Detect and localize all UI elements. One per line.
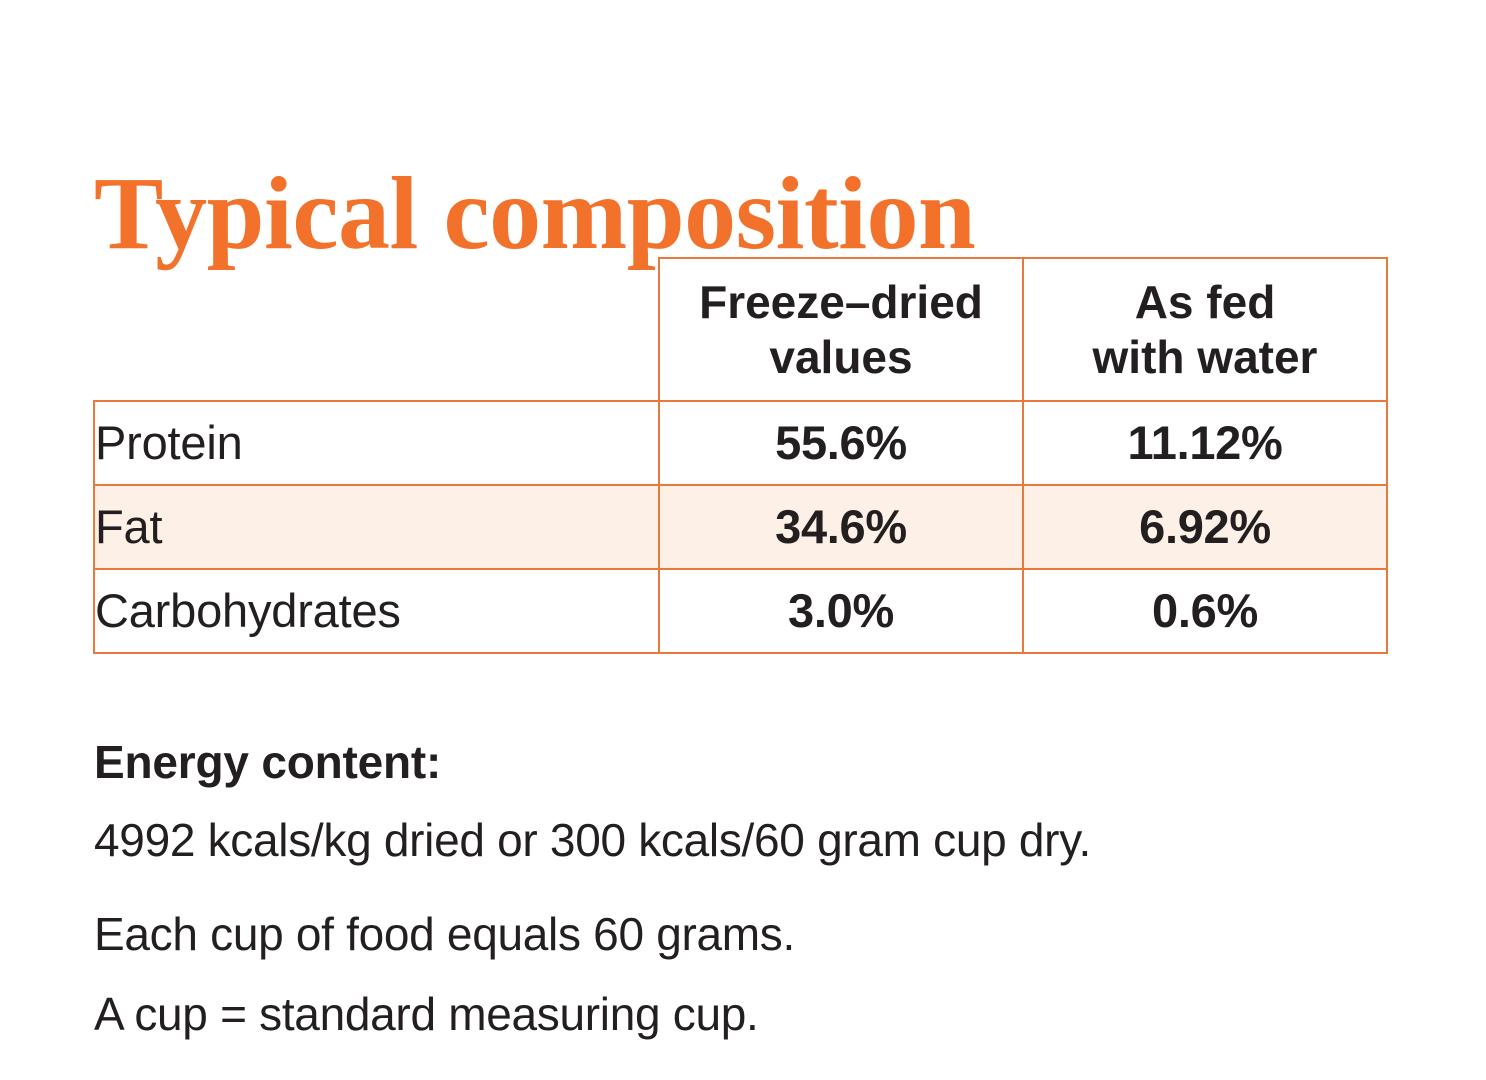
energy-content-block: Energy content: 4992 kcals/kg dried or 3… — [94, 738, 1414, 865]
column-header-as-fed-line1: As fed — [1135, 276, 1276, 328]
cell-fat-freeze-dried: 34.6% — [659, 485, 1023, 569]
table-body: Protein 55.6% 11.12% Fat 34.6% 6.92% Car… — [94, 401, 1387, 653]
energy-content-heading: Energy content: — [94, 738, 1414, 786]
row-label-protein: Protein — [94, 401, 659, 485]
cell-protein-as-fed: 11.12% — [1023, 401, 1387, 485]
column-header-freeze-dried-line1: Freeze–dried — [699, 276, 983, 328]
cell-carbohydrates-as-fed: 0.6% — [1023, 569, 1387, 653]
row-label-carbohydrates: Carbohydrates — [94, 569, 659, 653]
note-cup-grams: Each cup of food equals 60 grams. — [94, 910, 1414, 958]
notes-block: Each cup of food equals 60 grams. A cup … — [94, 910, 1414, 1039]
column-header-freeze-dried: Freeze–dried values — [659, 258, 1023, 401]
row-label-fat: Fat — [94, 485, 659, 569]
table-row: Protein 55.6% 11.12% — [94, 401, 1387, 485]
column-header-as-fed: As fed with water — [1023, 258, 1387, 401]
energy-content-value: 4992 kcals/kg dried or 300 kcals/60 gram… — [94, 816, 1414, 864]
column-header-as-fed-line2: with water — [1024, 330, 1386, 384]
table-row: Carbohydrates 3.0% 0.6% — [94, 569, 1387, 653]
composition-page: { "page": { "title": "Typical compositio… — [0, 0, 1486, 1080]
table-header: Freeze–dried values As fed with water — [94, 258, 1387, 401]
cell-fat-as-fed: 6.92% — [1023, 485, 1387, 569]
table-row: Fat 34.6% 6.92% — [94, 485, 1387, 569]
cell-protein-freeze-dried: 55.6% — [659, 401, 1023, 485]
note-cup-definition: A cup = standard measuring cup. — [94, 990, 1414, 1038]
typical-composition-table: Freeze–dried values As fed with water Pr… — [93, 257, 1388, 654]
cell-carbohydrates-freeze-dried: 3.0% — [659, 569, 1023, 653]
column-header-freeze-dried-line2: values — [660, 330, 1022, 384]
table-header-row: Freeze–dried values As fed with water — [94, 258, 1387, 401]
page-title: Typical composition — [94, 162, 975, 266]
column-header-blank — [94, 258, 659, 401]
